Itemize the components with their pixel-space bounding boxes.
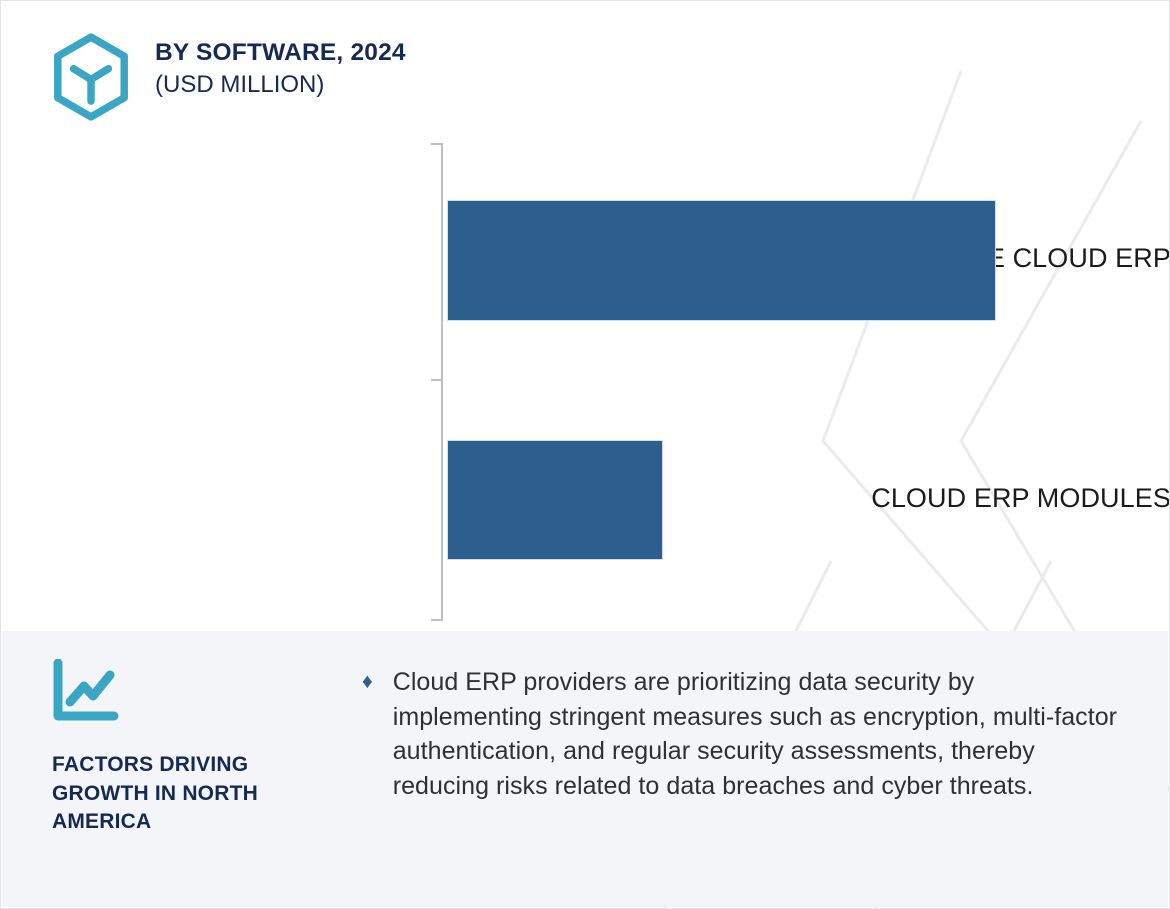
axis-tick-top [431, 143, 442, 145]
factors-bullet-text: Cloud ERP providers are prioritizing dat… [393, 665, 1128, 803]
chart-axis-line [441, 143, 443, 621]
hexagon-y-logo-icon [49, 33, 133, 121]
axis-tick-middle [431, 379, 442, 381]
diamond-bullet-icon: ♦ [362, 665, 373, 692]
page-title: BY SOFTWARE, 2024 [155, 39, 406, 67]
bar-full-suite-cloud-erp [448, 201, 995, 320]
line-chart-growth-icon [52, 659, 124, 723]
page-subtitle: (USD MILLION) [155, 71, 406, 100]
bar-chart: FULL-SUITE CLOUD ERP CLOUD ERP MODULES [1, 131, 1170, 631]
factors-panel: FACTORS DRIVING GROWTH IN NORTH AMERICA … [2, 631, 1168, 907]
factors-panel-heading: FACTORS DRIVING GROWTH IN NORTH AMERICA [52, 751, 342, 837]
list-item: ♦ Cloud ERP providers are prioritizing d… [362, 665, 1128, 803]
infographic-canvas: BY SOFTWARE, 2024 (USD MILLION) FULL-SUI… [0, 0, 1170, 909]
chart-header: BY SOFTWARE, 2024 (USD MILLION) [49, 31, 406, 121]
bar-cloud-erp-modules [448, 441, 662, 559]
category-label-cloud-erp-modules: CLOUD ERP MODULES [771, 483, 1170, 514]
factors-panel-left: FACTORS DRIVING GROWTH IN NORTH AMERICA [2, 631, 342, 907]
factors-panel-right: ♦ Cloud ERP providers are prioritizing d… [342, 631, 1168, 907]
axis-tick-bottom [431, 619, 442, 621]
